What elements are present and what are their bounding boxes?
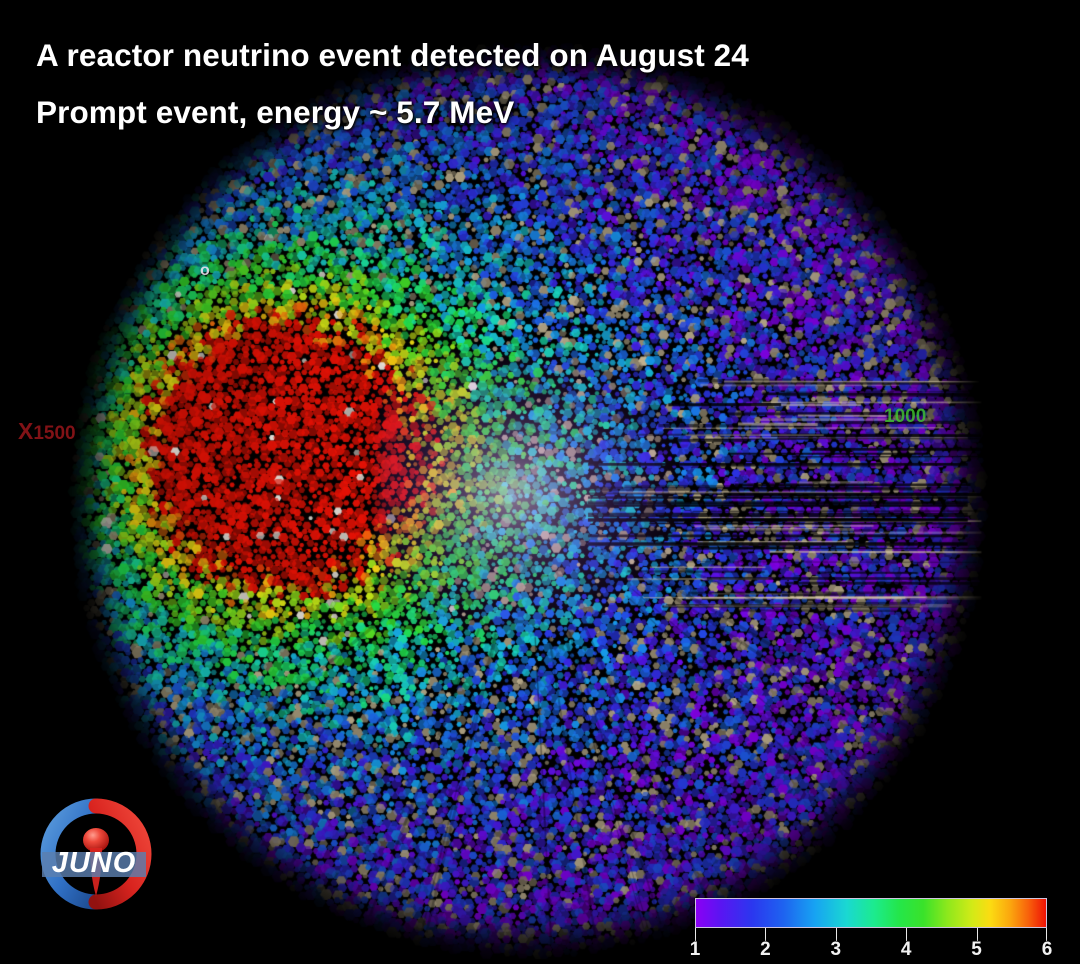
colorbar[interactable]: 123456 — [695, 898, 1055, 958]
event-display-stage: A reactor neutrino event detected on Aug… — [0, 0, 1080, 964]
colorbar-tick-label: 1 — [690, 939, 701, 961]
axis-x-label: X1500 — [18, 418, 76, 445]
colorbar-tick-label: 5 — [971, 939, 982, 961]
juno-logo-graphic: JUNO — [32, 798, 160, 910]
detector-sphere[interactable] — [0, 0, 1080, 964]
juno-logo[interactable]: JUNO — [32, 798, 160, 910]
axis-right-value: 1000 — [884, 406, 926, 428]
colorbar-tick-label: 4 — [901, 939, 912, 961]
colorbar-gradient[interactable] — [695, 898, 1047, 928]
colorbar-tick-label: 2 — [760, 939, 771, 961]
logo-wordmark: JUNO — [52, 847, 137, 879]
axis-x-value: 1500 — [33, 423, 75, 444]
colorbar-tick-label: 3 — [831, 939, 842, 961]
colorbar-tick-label: 6 — [1042, 939, 1053, 961]
point-marker: o — [200, 262, 210, 280]
pmt-hit-map-canvas[interactable] — [0, 0, 1080, 964]
colorbar-ticks: 123456 — [695, 928, 1047, 958]
axis-x-symbol: X — [18, 418, 33, 444]
